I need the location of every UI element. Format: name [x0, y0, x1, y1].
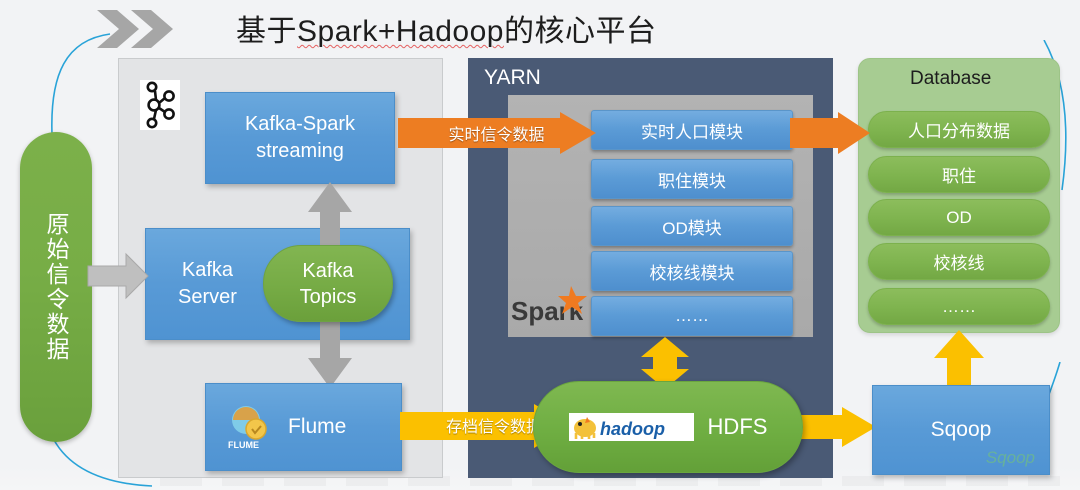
svg-text:FLUME: FLUME: [228, 440, 259, 450]
database-item-2-label: OD: [946, 208, 972, 228]
yarn-module-0-label: 实时人口模块: [641, 118, 743, 143]
database-item-0[interactable]: 人口分布数据: [868, 111, 1050, 148]
yarn-module-2-label: OD模块: [662, 214, 722, 239]
yarn-module-3-label: 校核线模块: [650, 259, 735, 284]
database-item-1-label: 职住: [942, 162, 976, 187]
realtime-flow-label: 实时信令数据: [424, 120, 569, 146]
arrow-topics-to-streaming: [306, 182, 354, 252]
source-data-label: 原始信令数据: [42, 212, 70, 362]
hdfs-box[interactable]: hadoop HDFS: [533, 381, 803, 473]
kafka-spark-streaming-box[interactable]: Kafka-Spark streaming: [205, 92, 395, 184]
title-suffix: 的核心平台: [504, 15, 657, 48]
title-prefix: 基于: [236, 15, 297, 48]
svg-text:hadoop: hadoop: [600, 419, 665, 439]
yarn-module-2[interactable]: OD模块: [591, 206, 793, 246]
sqoop-watermark: Sqoop: [986, 448, 1035, 468]
yarn-module-4[interactable]: ……: [591, 296, 793, 336]
diagram-canvas: 基于Spark+Hadoop的核心平台 原始信令数据 Kafka-Spark s…: [0, 0, 1080, 490]
database-item-4-label: ……: [942, 297, 976, 317]
yarn-module-1[interactable]: 职住模块: [591, 159, 793, 199]
database-item-2[interactable]: OD: [868, 199, 1050, 236]
kafka-spark-line1: Kafka-Spark: [245, 111, 355, 138]
arrow-hdfs-to-sqoop: [796, 405, 876, 449]
database-item-4[interactable]: ……: [868, 288, 1050, 325]
database-item-1[interactable]: 职住: [868, 156, 1050, 193]
yarn-module-3[interactable]: 校核线模块: [591, 251, 793, 291]
kafka-logo: [140, 80, 180, 130]
source-data-pill: 原始信令数据: [20, 132, 92, 442]
yarn-module-4-label: ……: [675, 306, 709, 326]
kafka-topics-line1: Kafka: [300, 258, 357, 284]
kafka-topics-line2: Topics: [300, 284, 357, 310]
sqoop-label: Sqoop: [931, 418, 992, 442]
flume-logo: FLUME: [222, 398, 280, 456]
yarn-module-0[interactable]: 实时人口模块: [591, 110, 793, 150]
hadoop-logo: hadoop: [569, 413, 694, 441]
sqoop-box[interactable]: Sqoop Sqoop: [872, 385, 1050, 475]
double-chevron-right-icon: [95, 8, 181, 50]
page-title: 基于Spark+Hadoop的核心平台: [236, 6, 656, 50]
title-spellchecked-term: Spark+Hadoop: [297, 15, 504, 48]
yarn-label: YARN: [484, 66, 541, 90]
kafka-server-line2: Server: [178, 284, 237, 311]
spark-logo: Spark: [509, 282, 595, 330]
yarn-module-1-label: 职住模块: [658, 167, 726, 192]
database-label: Database: [910, 68, 991, 90]
arrow-sqoop-to-database: [932, 330, 986, 388]
hdfs-label: HDFS: [708, 414, 768, 440]
kafka-topics-pill[interactable]: Kafka Topics: [263, 245, 393, 322]
database-item-0-label: 人口分布数据: [908, 117, 1010, 142]
database-item-3[interactable]: 校核线: [868, 243, 1050, 280]
database-item-3-label: 校核线: [934, 249, 985, 274]
flume-label: Flume: [288, 415, 346, 439]
arrow-source-to-kafka-server: [88, 252, 150, 300]
kafka-spark-line2: streaming: [245, 138, 355, 165]
arrow-yarn-to-database: [790, 112, 870, 154]
flume-box[interactable]: FLUME Flume: [205, 383, 402, 471]
kafka-server-line1: Kafka: [178, 257, 237, 284]
arrow-topics-to-flume: [306, 318, 354, 388]
